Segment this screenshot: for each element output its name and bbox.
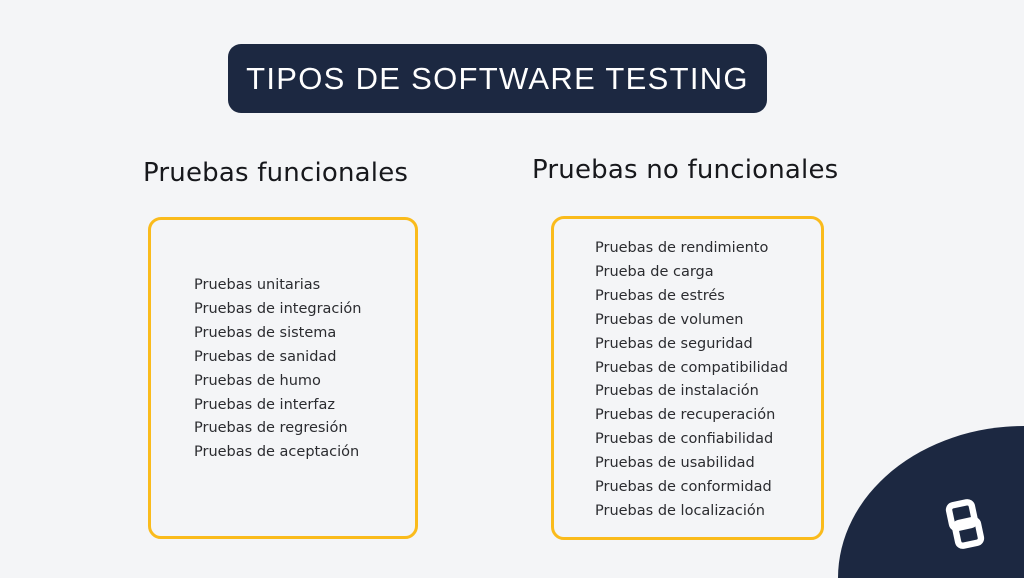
list-item: Pruebas de interfaz [194,394,362,418]
column-heading-functional: Pruebas funcionales [143,160,408,186]
list-item: Pruebas de recuperación [595,404,788,428]
list-item: Pruebas de conformidad [595,476,788,500]
list-item: Pruebas de volumen [595,309,788,333]
list-item: Prueba de carga [595,261,788,285]
list-item: Pruebas de aceptación [194,441,362,465]
list-item: Pruebas de instalación [595,380,788,404]
list-item: Pruebas de usabilidad [595,452,788,476]
list-item: Pruebas de sanidad [194,346,362,370]
list-functional-tests: Pruebas unitarias Pruebas de integración… [194,274,362,465]
list-item: Pruebas de localización [595,500,788,524]
column-heading-non-functional: Pruebas no funcionales [532,157,838,183]
list-item: Pruebas de compatibilidad [595,357,788,381]
list-item: Pruebas de integración [194,298,362,322]
list-item: Pruebas de estrés [595,285,788,309]
list-item: Pruebas unitarias [194,274,362,298]
list-item: Pruebas de confiabilidad [595,428,788,452]
list-item: Pruebas de seguridad [595,333,788,357]
list-non-functional-tests: Pruebas de rendimiento Prueba de carga P… [595,237,788,524]
corner-decoration [838,426,1024,578]
page-title: TIPOS DE SOFTWARE TESTING [246,63,749,94]
interlocking-squares-logo-icon [936,495,994,553]
list-item: Pruebas de sistema [194,322,362,346]
list-item: Pruebas de rendimiento [595,237,788,261]
slide-canvas: TIPOS DE SOFTWARE TESTING Pruebas funcio… [0,0,1024,578]
slide-title-banner: TIPOS DE SOFTWARE TESTING [228,44,767,113]
list-item: Pruebas de humo [194,370,362,394]
list-item: Pruebas de regresión [194,417,362,441]
